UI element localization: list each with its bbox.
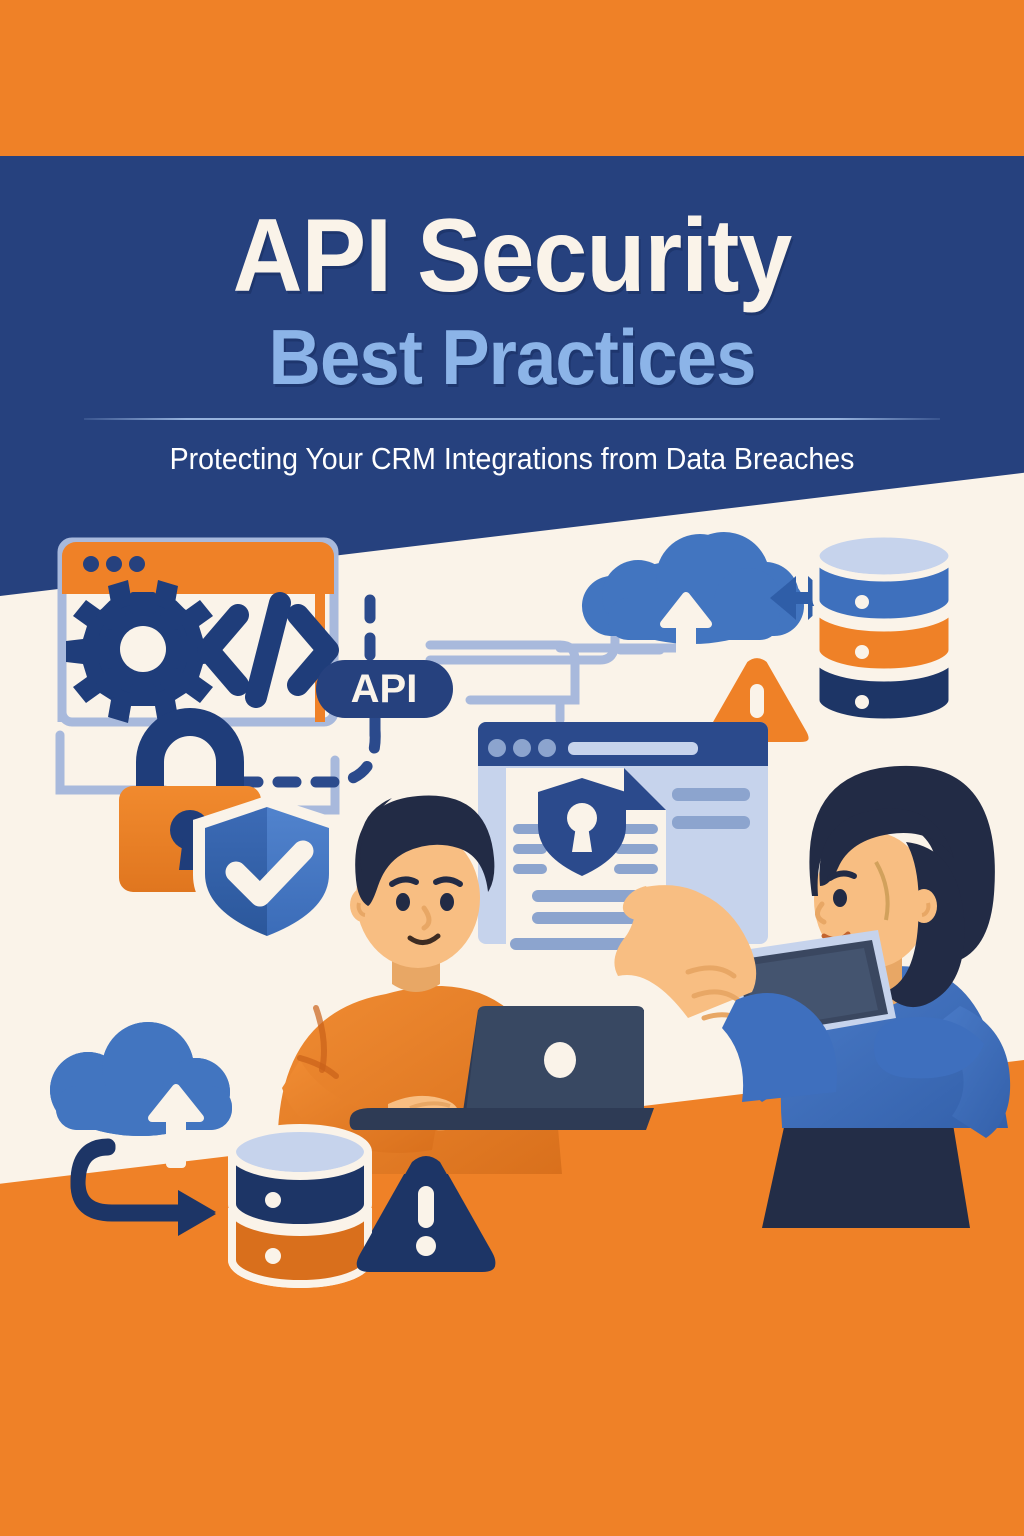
database-icon-2-front: [232, 1128, 368, 1284]
foreground-layer: [0, 0, 1024, 1536]
curved-arrow-icon-front: [78, 1148, 216, 1236]
poster-canvas: API Security Best Practices Protecting Y…: [0, 0, 1024, 1536]
warning-triangle-icon-2-front: [357, 1156, 496, 1272]
cloud-upload-icon-2-front: [50, 1022, 232, 1164]
